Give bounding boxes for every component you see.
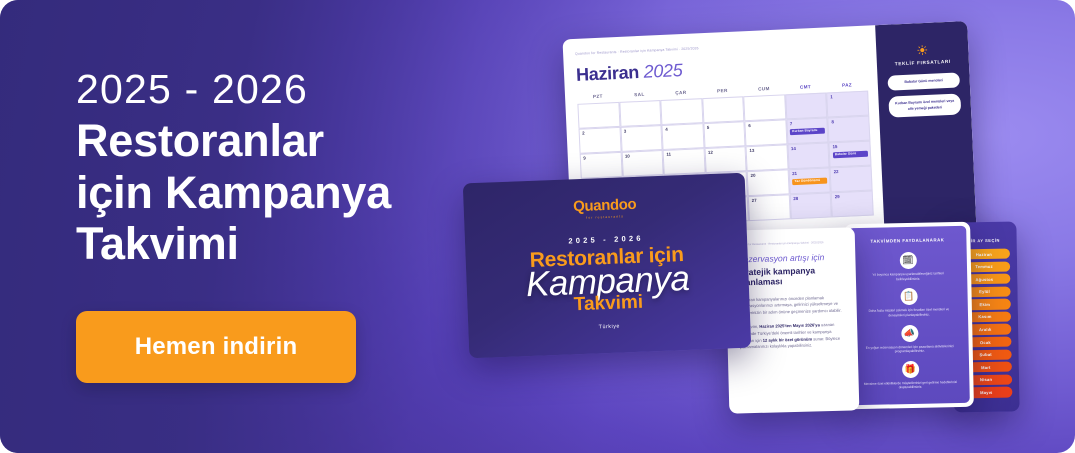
calendar-day-number: 6	[748, 122, 783, 128]
calendar-day-cell[interactable]: 8	[828, 116, 871, 143]
promo-headline: Restoranlar için Kampanya Takvimi	[76, 115, 496, 269]
calendar-day-number: 4	[665, 126, 700, 132]
calendar-day-cell[interactable]: 12	[704, 146, 747, 173]
benefit-text: Daha fazla müşteri çekmek için fırsatlar…	[860, 307, 958, 318]
headline-line-2: için Kampanya	[76, 167, 496, 218]
headline-line-1: Restoranlar	[76, 115, 496, 166]
calendar-day-number: 13	[749, 147, 784, 153]
calendar-event-chip[interactable]: Babalar Günü	[833, 151, 868, 159]
cover-country: Türkiye	[468, 319, 750, 336]
calendar-day-cell[interactable]: 15Babalar Günü	[829, 141, 872, 168]
calendar-day-number: 2	[582, 130, 617, 136]
calendar-day-number	[747, 98, 782, 100]
calendar-day-cell[interactable]: 29	[831, 191, 874, 218]
calendar-day-number: 9	[583, 155, 618, 161]
benefits-title: TAKVİMDEN FAYDALANARAK	[858, 237, 956, 244]
offer-pill[interactable]: Kurban Bayramı özel menüleri veya aile y…	[888, 94, 961, 118]
calendar-day-number: 11	[666, 151, 701, 157]
benefit-item: 📣En yoğun rezervasyon dönemleri için paz…	[860, 324, 959, 355]
promo-copy: 2025 - 2026 Restoranlar için Kampanya Ta…	[76, 68, 496, 269]
calendar-day-cell[interactable]: 3	[620, 125, 663, 152]
calendar-day-number: 1	[830, 94, 865, 100]
offer-pill[interactable]: Babalar Günü menüleri	[887, 72, 960, 91]
calendar-day-cell[interactable]: 9	[580, 152, 623, 179]
offers-title: TEKLİF FIRSATLARI	[887, 58, 959, 66]
calendar-icon: 🗓	[899, 252, 916, 269]
clipboard-icon: 📋	[900, 288, 917, 305]
calendar-day-number: 29	[835, 194, 870, 200]
calendar-day-cell[interactable]: 14	[787, 142, 830, 169]
calendar-day-number: 27	[752, 197, 787, 203]
calendar-year: 2025	[643, 60, 683, 82]
benefits-card[interactable]: TAKVİMDEN FAYDALANARAK 🗓Yıl boyunca kamp…	[844, 222, 974, 410]
promo-banner: 2025 - 2026 Restoranlar için Kampanya Ta…	[0, 0, 1075, 453]
benefit-text: En yoğun rezervasyon dönemleri için paza…	[861, 344, 959, 355]
calendar-day-number: 28	[793, 196, 828, 202]
calendar-day-number	[789, 96, 824, 98]
calendar-day-number: 14	[791, 146, 826, 152]
calendar-day-number: 5	[707, 124, 742, 130]
calendar-day-cell[interactable]	[702, 96, 745, 123]
calendar-day-number	[706, 99, 741, 101]
calendar-day-cell[interactable]: 27	[748, 194, 791, 221]
sun-icon	[917, 45, 927, 55]
calendar-event-chip[interactable]: Yaz Gündönümü	[792, 177, 827, 185]
benefit-text: Mevsime özel etkinliklerde müşterilerini…	[861, 380, 959, 391]
calendar-month-title: Haziran 2025	[576, 52, 868, 86]
calendar-day-cell[interactable]	[785, 93, 828, 120]
strategy-paragraph-1: Restoran kampanyalarınızı önceden planla…	[738, 294, 844, 317]
strategy-heading: stratejik kampanya planlaması	[738, 265, 845, 288]
calendar-day-cell[interactable]: 13	[746, 144, 789, 171]
gift-icon: 🎁	[901, 361, 918, 378]
calendar-day-cell[interactable]: 20	[747, 169, 790, 196]
calendar-day-number: 22	[834, 169, 869, 175]
calendar-day-number: 3	[624, 128, 659, 134]
benefit-text: Yıl boyunca kampanya uyarlanabileceğiniz…	[859, 271, 957, 282]
calendar-day-cell[interactable]: 1	[827, 91, 870, 118]
calendar-day-cell[interactable]: 28	[790, 192, 833, 219]
calendar-day-number: 15	[832, 144, 867, 150]
calendar-day-cell[interactable]	[660, 98, 703, 125]
calendar-day-cell[interactable]: 2	[579, 127, 622, 154]
download-cta-button[interactable]: Hemen indirin	[76, 311, 356, 383]
calendar-day-cell[interactable]	[744, 94, 787, 121]
calendar-month-name: Haziran	[576, 62, 640, 85]
offers-pill-list: Babalar Günü menüleriKurban Bayramı özel…	[887, 72, 961, 117]
calendar-day-cell[interactable]: 6	[745, 119, 788, 146]
calendar-day-number: 21	[792, 171, 827, 177]
para2-bold-1: Haziran 2025'ten Mayıs 2026'ya	[759, 323, 820, 330]
benefit-item: 🗓Yıl boyunca kampanya uyarlanabileceğini…	[859, 251, 958, 282]
strategy-paragraph-2: Bu takvim, Haziran 2025'ten Mayıs 2026'y…	[739, 322, 846, 351]
strategy-breadcrumb: Quandoo for Restaurants · Restoranlar iç…	[737, 241, 843, 247]
calendar-day-cell[interactable]: 11	[663, 148, 706, 175]
calendar-day-cell[interactable]: 7Kurban Bayramı	[786, 117, 829, 144]
calendar-day-cell[interactable]	[577, 102, 620, 129]
calendar-day-cell[interactable]: 21Yaz Gündönümü	[788, 167, 831, 194]
calendar-event-chip[interactable]: Kurban Bayramı	[790, 128, 825, 136]
headline-line-3: Takvimi	[76, 218, 496, 269]
strategy-kicker: Rezervasyon artışı için	[737, 253, 843, 266]
calendar-day-number: 8	[831, 119, 866, 125]
para2-bold-2: 12 aylık bir özet görünüm	[763, 336, 812, 342]
calendar-day-number	[664, 101, 699, 103]
calendar-day-cell[interactable]: 4	[662, 123, 705, 150]
promo-eyebrow: 2025 - 2026	[76, 68, 496, 111]
calendar-day-cell[interactable]: 5	[703, 121, 746, 148]
benefit-item: 🎁Mevsime özel etkinliklerde müşterilerin…	[861, 360, 960, 391]
calendar-day-number: 12	[708, 149, 743, 155]
benefits-inner: TAKVİMDEN FAYDALANARAK 🗓Yıl boyunca kamp…	[848, 226, 970, 405]
megaphone-icon: 📣	[901, 324, 918, 341]
calendar-day-cell[interactable]	[619, 100, 662, 127]
calendar-day-number: 7	[790, 121, 825, 127]
cover-card[interactable]: Quandoo for restaurants 2025 - 2026 Rest…	[463, 173, 752, 359]
benefits-list: 🗓Yıl boyunca kampanya uyarlanabileceğini…	[859, 251, 960, 391]
calendar-day-number: 10	[625, 153, 660, 159]
calendar-day-cell[interactable]: 10	[621, 150, 664, 177]
calendar-day-number	[623, 103, 658, 105]
calendar-day-number	[581, 105, 616, 107]
benefit-item: 📋Daha fazla müşteri çekmek için fırsatla…	[859, 287, 958, 318]
calendar-day-number: 20	[751, 172, 786, 178]
calendar-day-cell[interactable]: 22	[830, 166, 873, 193]
